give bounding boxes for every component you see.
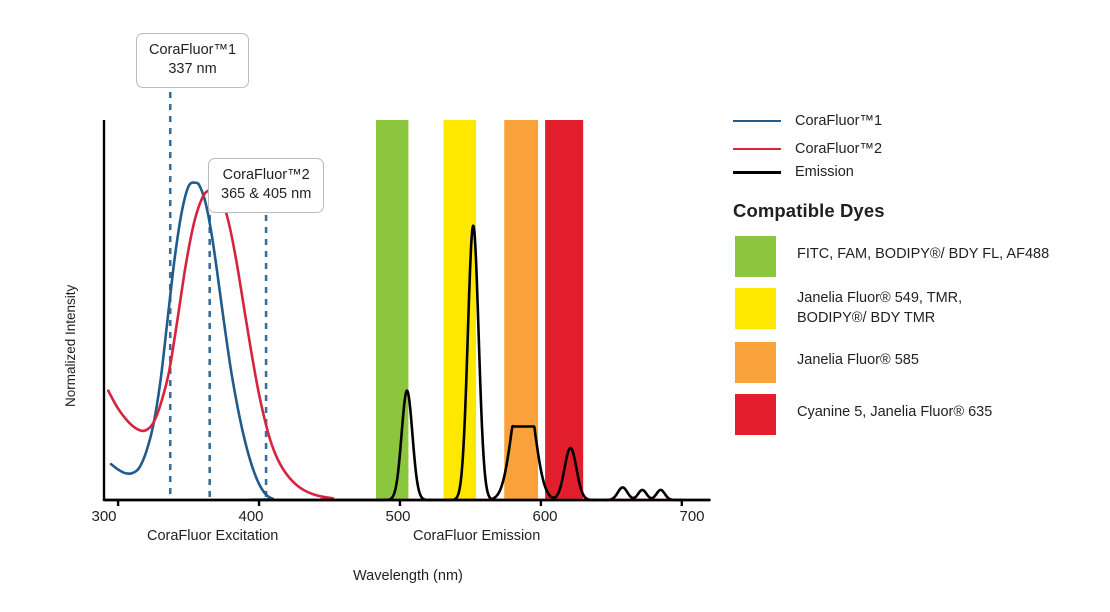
emission-band-green bbox=[376, 120, 408, 500]
dye-label-orange: Janelia Fluor® 585 bbox=[797, 342, 919, 371]
dye-item-yellow: Janelia Fluor® 549, TMR, BODIPY®/ BDY TM… bbox=[735, 288, 962, 329]
emission-band-yellow bbox=[444, 120, 476, 500]
dye-label-yellow: Janelia Fluor® 549, TMR, BODIPY®/ BDY TM… bbox=[797, 288, 962, 328]
emission-band-red bbox=[545, 120, 583, 500]
dye-swatch-orange bbox=[735, 342, 776, 383]
figure-root: CoraFluor™1 337 nm CoraFluor™2 365 & 405… bbox=[0, 0, 1110, 612]
legend-panel: CoraFluor™1 CoraFluor™2 Emission Compati… bbox=[725, 0, 1110, 612]
dye-label-red: Cyanine 5, Janelia Fluor® 635 bbox=[797, 394, 992, 423]
legend-line-corafluor2 bbox=[733, 148, 781, 150]
legend-label-corafluor2: CoraFluor™2 bbox=[795, 141, 882, 157]
callout2-line2: 365 & 405 nm bbox=[221, 185, 311, 204]
x-tick-400: 400 bbox=[238, 508, 263, 525]
region-label-emission: CoraFluor Emission bbox=[413, 528, 540, 544]
dye-item-green: FITC, FAM, BODIPY®/ BDY FL, AF488 bbox=[735, 236, 1049, 277]
legend-label-corafluor1: CoraFluor™1 bbox=[795, 113, 882, 129]
legend-item-corafluor1: CoraFluor™1 bbox=[733, 113, 882, 129]
dye-swatch-yellow bbox=[735, 288, 776, 329]
dye-label-green: FITC, FAM, BODIPY®/ BDY FL, AF488 bbox=[797, 236, 1049, 265]
legend-label-emission: Emission bbox=[795, 164, 854, 180]
callout-corafluor1: CoraFluor™1 337 nm bbox=[136, 33, 249, 88]
region-label-excitation: CoraFluor Excitation bbox=[147, 528, 278, 544]
callout1-line1: CoraFluor™1 bbox=[149, 42, 236, 58]
compatible-dyes-heading: Compatible Dyes bbox=[733, 200, 885, 222]
legend-item-emission: Emission bbox=[733, 164, 854, 180]
dye-item-orange: Janelia Fluor® 585 bbox=[735, 342, 919, 383]
x-tick-300: 300 bbox=[91, 508, 116, 525]
legend-item-corafluor2: CoraFluor™2 bbox=[733, 141, 882, 157]
y-axis-title: Normalized Intensity bbox=[63, 285, 78, 407]
callout1-line2: 337 nm bbox=[149, 60, 236, 79]
dye-swatch-green bbox=[735, 236, 776, 277]
x-tick-500: 500 bbox=[385, 508, 410, 525]
x-axis-title: Wavelength (nm) bbox=[353, 568, 463, 584]
x-tick-700: 700 bbox=[679, 508, 704, 525]
dye-item-red: Cyanine 5, Janelia Fluor® 635 bbox=[735, 394, 992, 435]
legend-line-emission bbox=[733, 171, 781, 174]
callout2-line1: CoraFluor™2 bbox=[223, 167, 310, 183]
x-tick-600: 600 bbox=[532, 508, 557, 525]
legend-line-corafluor1 bbox=[733, 120, 781, 122]
dye-swatch-red bbox=[735, 394, 776, 435]
callout-corafluor2: CoraFluor™2 365 & 405 nm bbox=[208, 158, 324, 213]
